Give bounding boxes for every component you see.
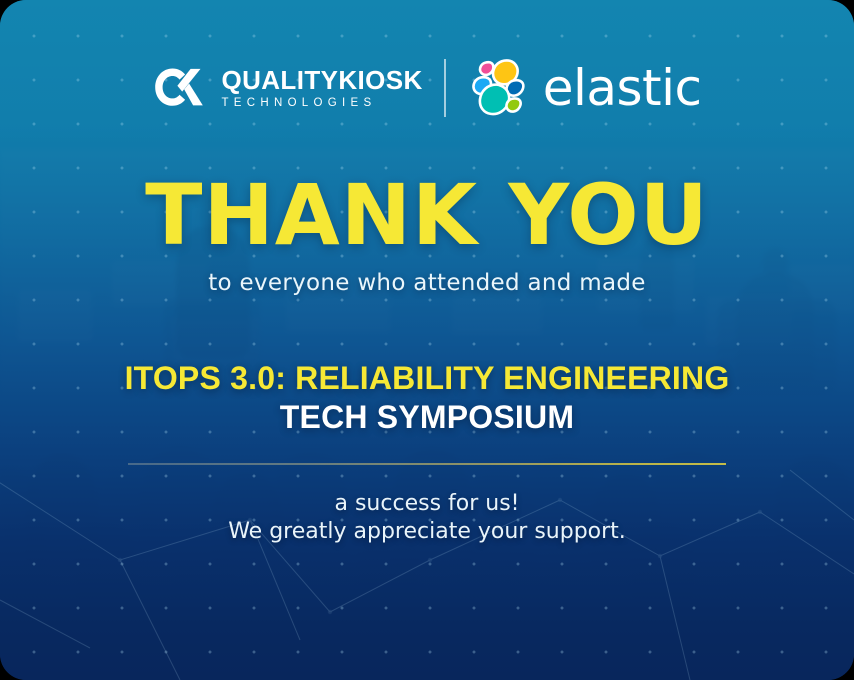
poster-content: QUALITYKIOSK TECHNOLOGIES elasti [0,0,854,680]
elastic-logo: elastic [469,57,702,119]
qualitykiosk-alpha-mark-icon [152,66,208,110]
thank-you-poster: QUALITYKIOSK TECHNOLOGIES elasti [0,0,854,680]
closing-line-1: a success for us! [228,490,626,518]
logo-separator [444,59,446,117]
thank-you-headline: THANK YOU [145,176,709,256]
thank-you-subline: to everyone who attended and made [208,270,646,296]
elastic-wordmark: elastic [543,63,702,113]
closing-message: a success for us! We greatly appreciate … [228,490,626,546]
closing-line-2: We greatly appreciate your support. [228,518,626,546]
qualitykiosk-name: QUALITYKIOSK [221,67,422,93]
logo-row: QUALITYKIOSK TECHNOLOGIES elasti [152,57,701,119]
event-title-line-2: TECH SYMPOSIUM [125,398,730,437]
event-title: ITOPS 3.0: RELIABILITY ENGINEERING TECH … [125,359,730,437]
qualitykiosk-subtitle: TECHNOLOGIES [221,98,422,110]
divider-rule [128,463,726,465]
qualitykiosk-wordmark: QUALITYKIOSK TECHNOLOGIES [221,67,422,110]
qualitykiosk-logo: QUALITYKIOSK TECHNOLOGIES [152,66,422,110]
elastic-cluster-mark-icon [469,57,531,119]
event-title-line-1: ITOPS 3.0: RELIABILITY ENGINEERING [125,359,730,398]
